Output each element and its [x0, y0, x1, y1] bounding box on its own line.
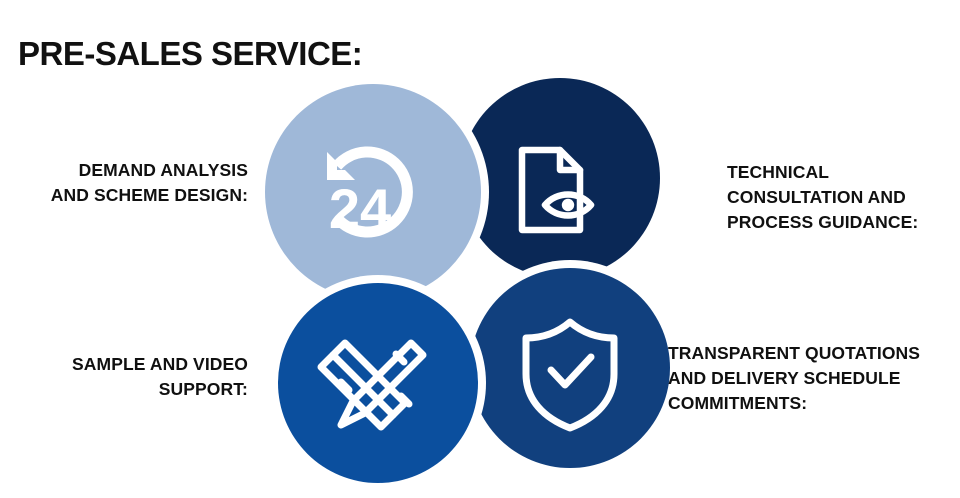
label-technical-consultation: TECHNICAL CONSULTATION AND PROCESS GUIDA… — [727, 160, 959, 235]
label-sample-video-support: SAMPLE AND VIDEO SUPPORT: — [0, 352, 248, 402]
icon-label-24: 24 — [329, 177, 391, 240]
pre-sales-service-infographic: PRE-SALES SERVICE: — [0, 0, 960, 498]
circle-transparent-quotations[interactable] — [470, 268, 670, 468]
circle-sample-video-support[interactable] — [278, 283, 478, 483]
circle-technical-consultation[interactable] — [460, 78, 660, 278]
circle-cluster: 24 — [0, 0, 960, 498]
label-demand-analysis: DEMAND ANALYSIS AND SCHEME DESIGN: — [0, 158, 248, 208]
label-transparent-quotations: TRANSPARENT QUOTATIONS AND DELIVERY SCHE… — [668, 341, 960, 416]
